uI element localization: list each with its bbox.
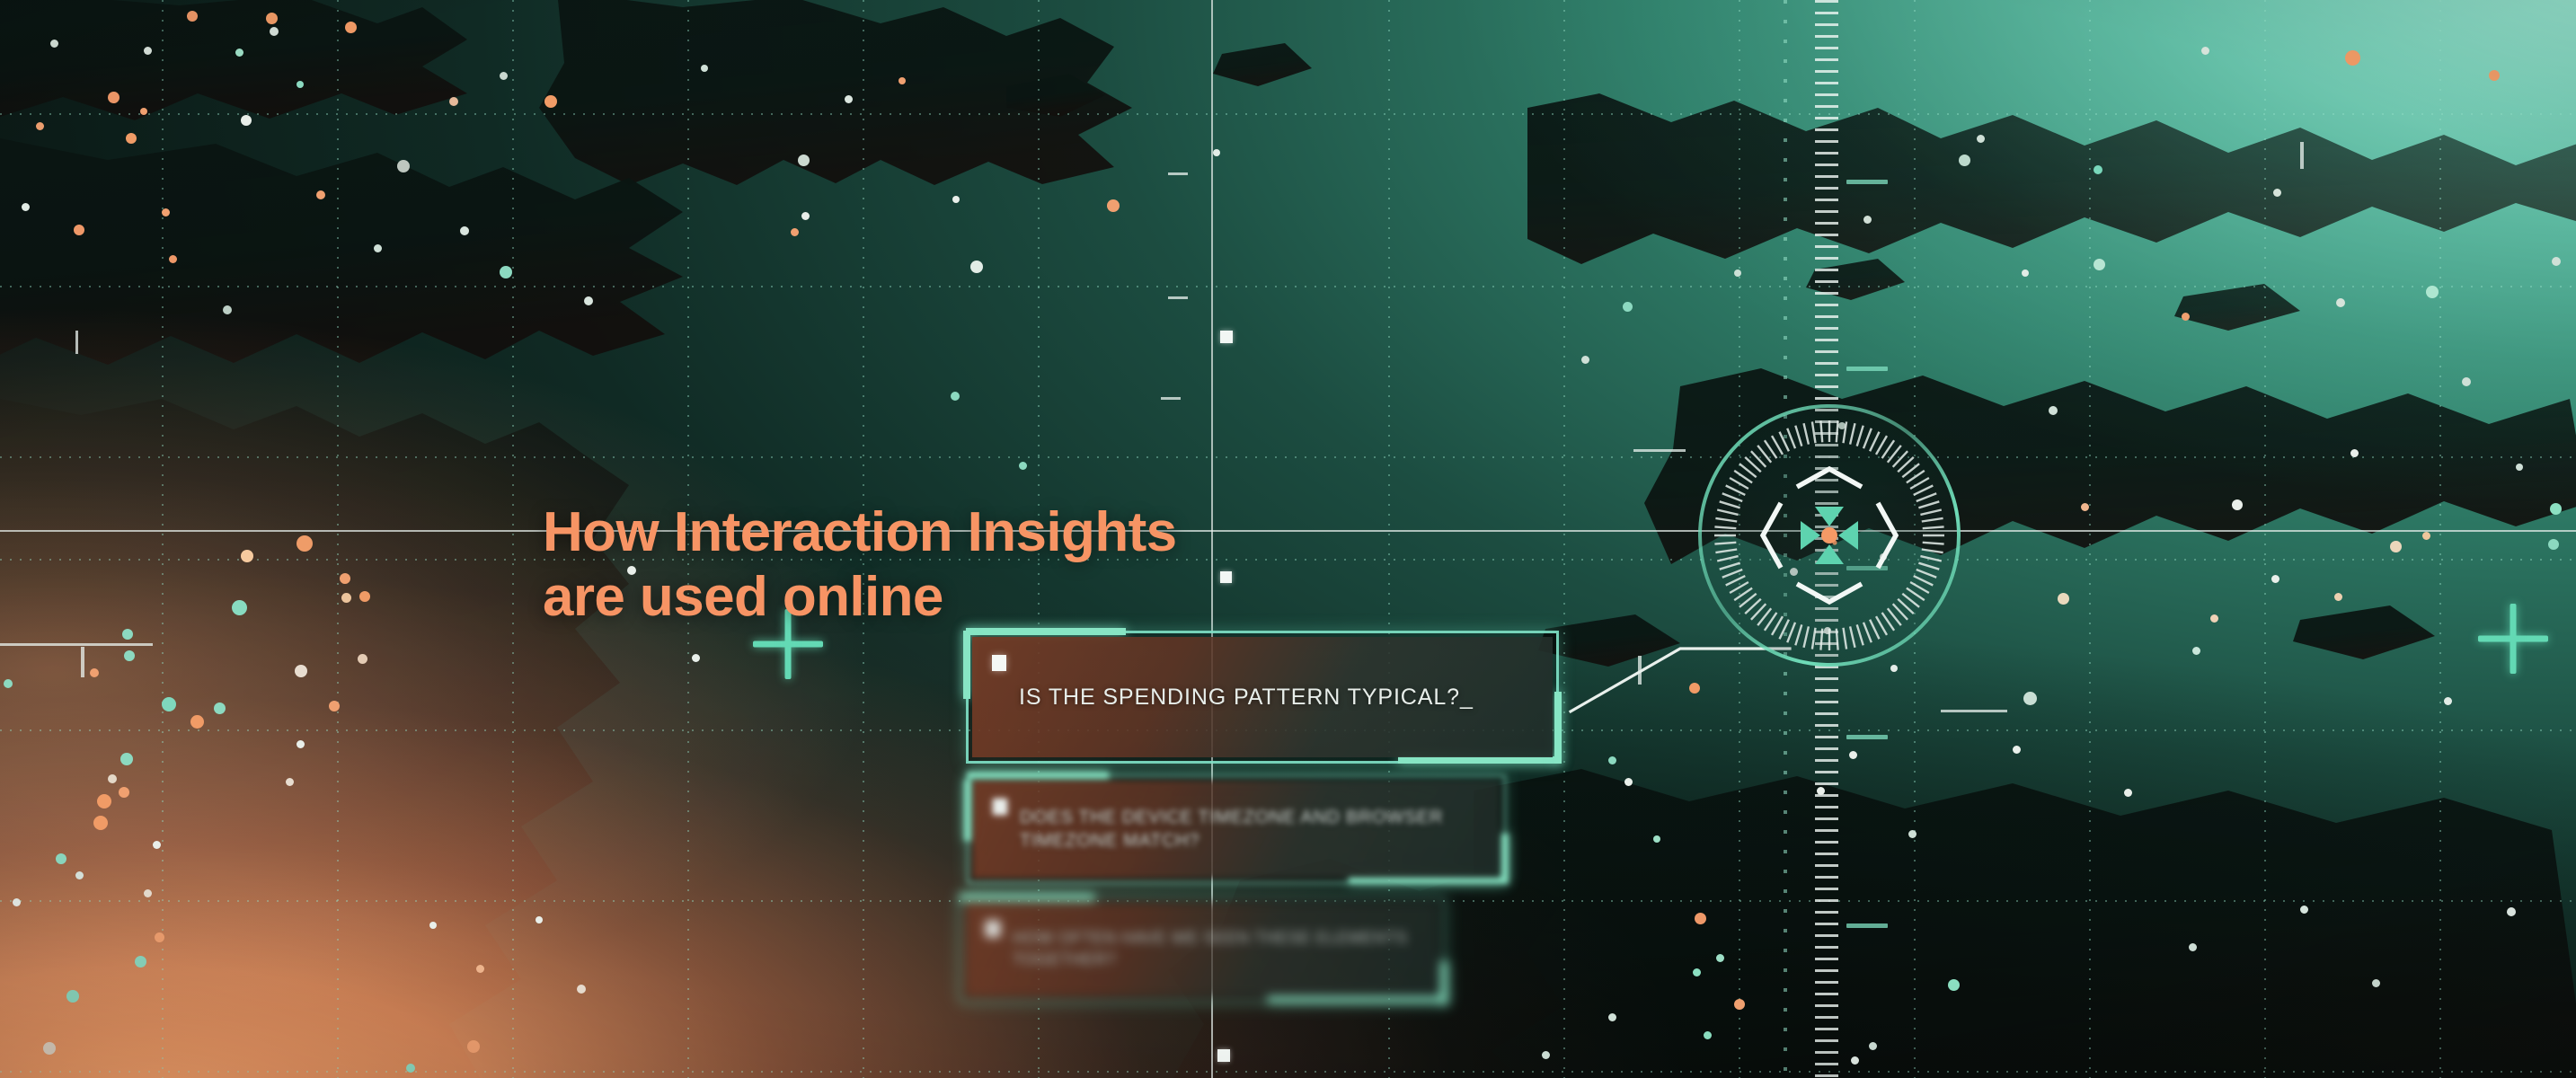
vignette-overlay [0,0,2576,1078]
hero-scene: How Interaction Insights are used online… [0,0,2576,1078]
